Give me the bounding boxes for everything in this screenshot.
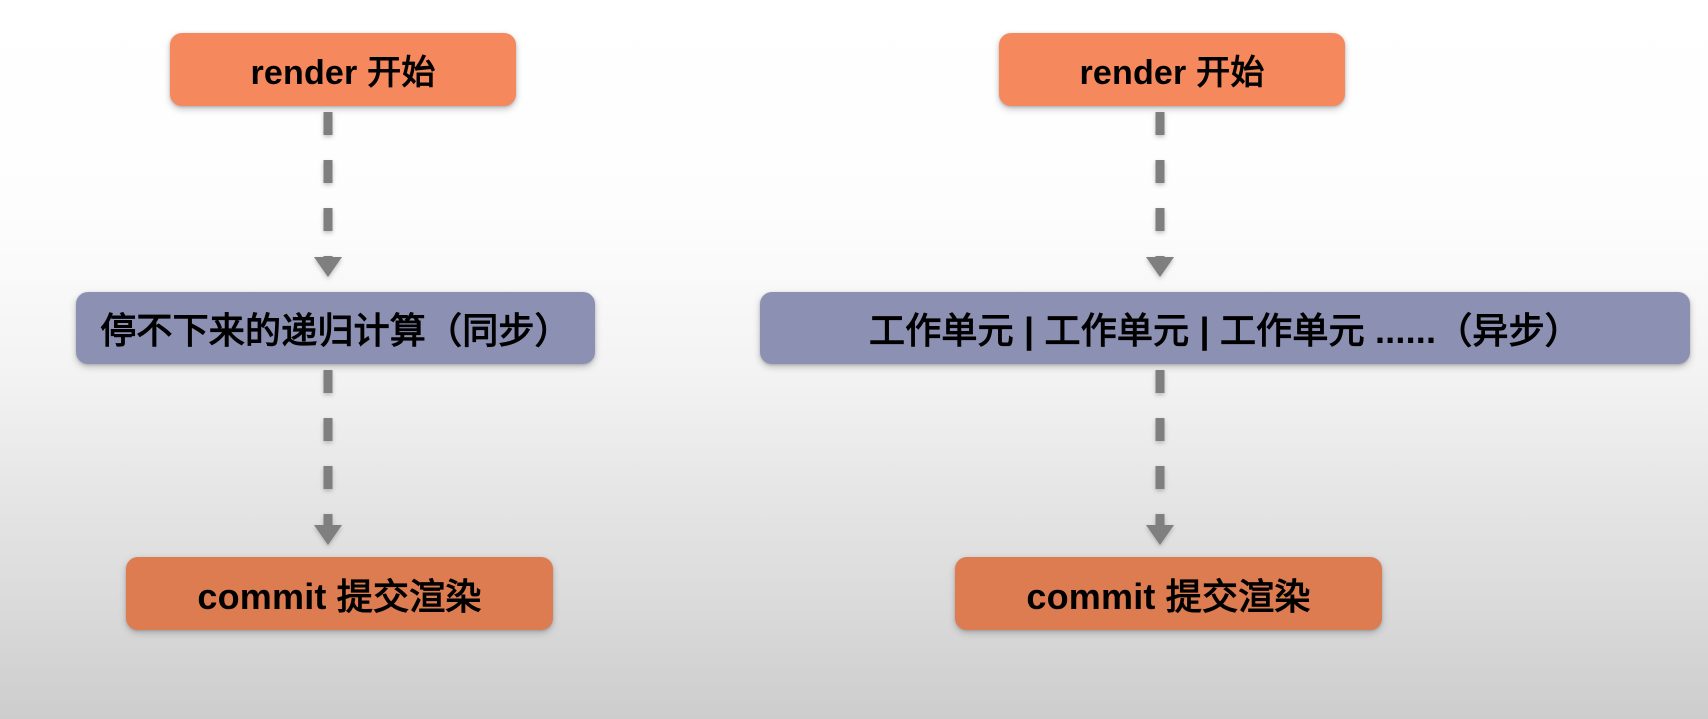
arrowhead-down-icon xyxy=(314,525,342,545)
connector-async-work-to-commit xyxy=(1130,370,1190,545)
diagram-canvas: render 开始 停不下来的递归计算（同步） commit 提交渲染 rend… xyxy=(0,0,1708,719)
dashed-line-segment xyxy=(324,370,333,525)
node-sync-render-start: render 开始 xyxy=(170,33,516,106)
arrowhead-down-icon xyxy=(1146,257,1174,277)
node-async-commit-render: commit 提交渲染 xyxy=(955,557,1382,630)
connector-sync-work-to-commit xyxy=(298,370,358,545)
dashed-line-segment xyxy=(1156,370,1165,525)
connector-async-start-to-work xyxy=(1130,112,1190,277)
node-sync-recursive-calculation: 停不下来的递归计算（同步） xyxy=(76,292,595,364)
node-async-work-units: 工作单元 | 工作单元 | 工作单元 ......（异步） xyxy=(760,292,1690,364)
arrowhead-down-icon xyxy=(314,257,342,277)
dashed-line-segment xyxy=(1156,112,1165,257)
dashed-line-segment xyxy=(324,112,333,257)
node-async-render-start: render 开始 xyxy=(999,33,1345,106)
node-sync-commit-render: commit 提交渲染 xyxy=(126,557,553,630)
connector-sync-start-to-work xyxy=(298,112,358,277)
arrowhead-down-icon xyxy=(1146,525,1174,545)
